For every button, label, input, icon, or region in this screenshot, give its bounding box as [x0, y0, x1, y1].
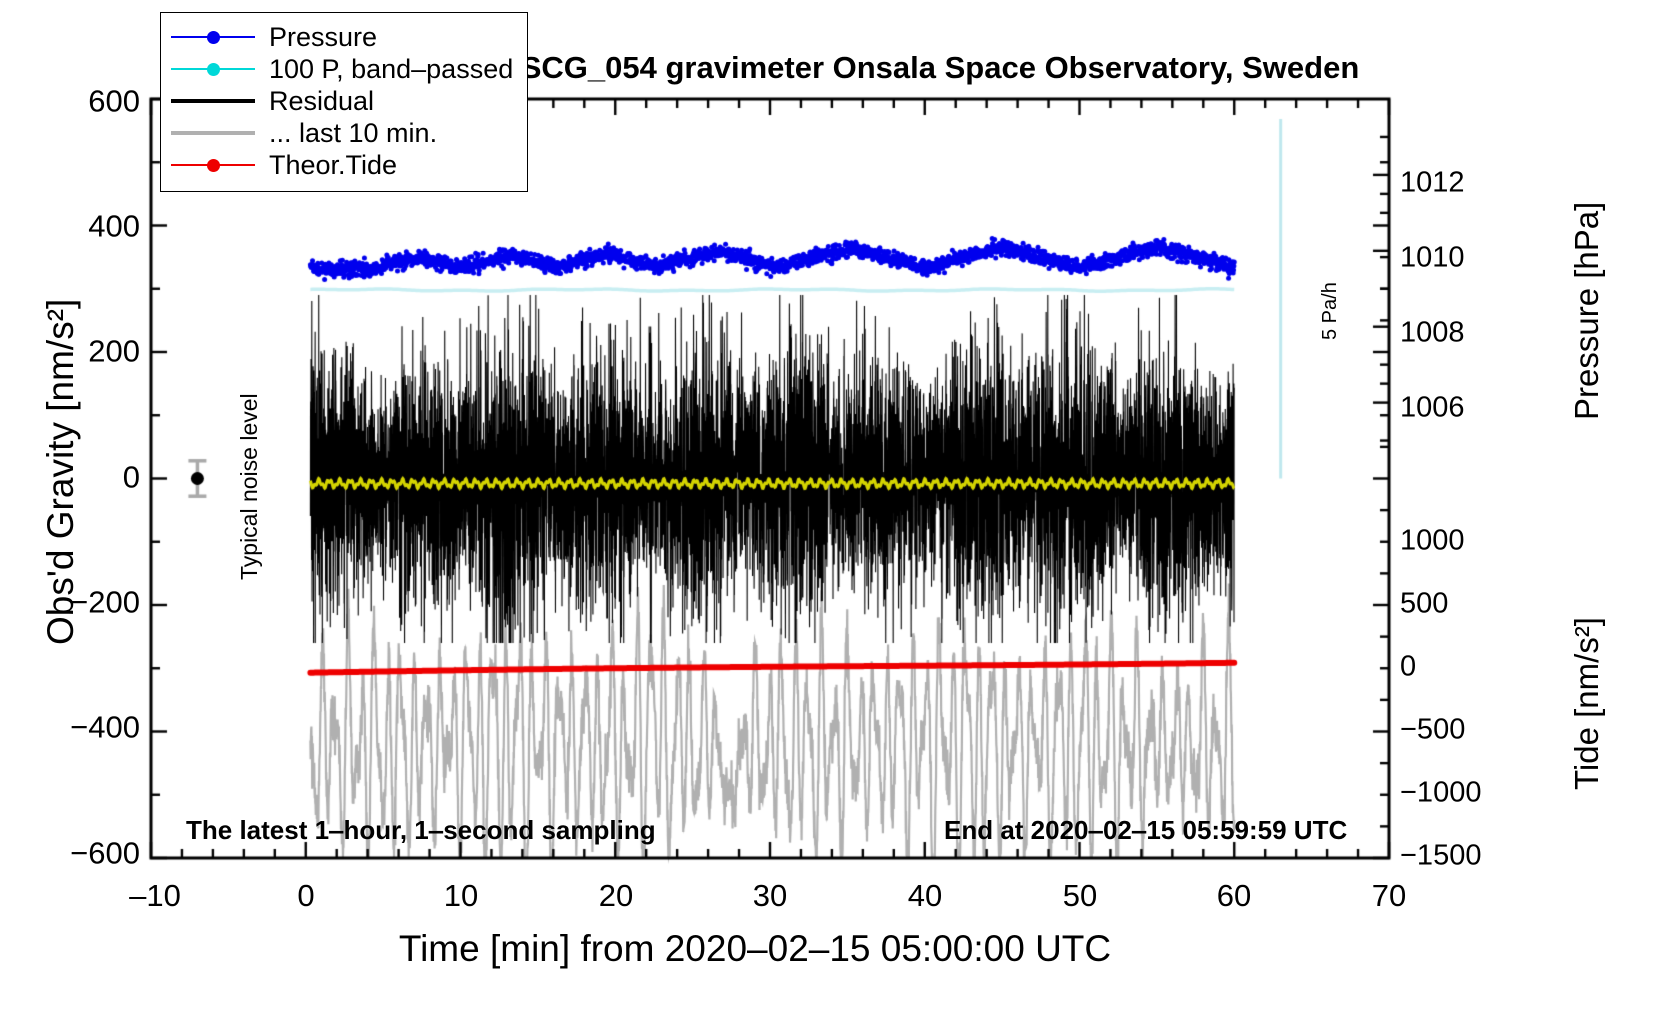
y-axis-right-pressure-title: Pressure [hPa]: [1570, 202, 1603, 420]
y-left-tick-400: 400: [20, 211, 140, 242]
x-tick-neg10: ‒10: [129, 880, 181, 911]
y-left-tick-600: 600: [20, 86, 140, 117]
y-right-tide-tick-neg1500: −1500: [1400, 842, 1481, 871]
x-tick-40: 40: [908, 880, 942, 911]
figure-root: SCG_054 gravimeter Onsala Space Observat…: [0, 0, 1660, 1020]
legend-swatch-last-10-min: [171, 123, 255, 143]
x-tick-0: 0: [297, 880, 314, 911]
legend-item-pressure[interactable]: Pressure: [171, 21, 513, 53]
x-tick-70: 70: [1372, 880, 1406, 911]
y-right-pressure-tick-1010: 1010: [1400, 244, 1465, 273]
y-right-pressure-tick-1012: 1012: [1400, 169, 1465, 198]
page-title: SCG_054 gravimeter Onsala Space Observat…: [521, 52, 1360, 83]
x-tick-10: 10: [444, 880, 478, 911]
legend-label-theor-tide: Theor.Tide: [269, 150, 397, 181]
y-right-tide-tick-neg1000: −1000: [1400, 779, 1481, 808]
y-right-tide-tick-1000: 1000: [1400, 527, 1465, 556]
legend-swatch-residual: [171, 91, 255, 111]
y-right-pressure-tick-1006: 1006: [1400, 394, 1465, 423]
legend-label-residual: Residual: [269, 86, 374, 117]
y-right-tide-tick-0: 0: [1400, 653, 1416, 682]
y-axis-left-title: Obs'd Gravity [nm/s²]: [42, 299, 79, 645]
x-tick-60: 60: [1217, 880, 1251, 911]
x-tick-20: 20: [599, 880, 633, 911]
x-tick-50: 50: [1063, 880, 1097, 911]
bottom-left-note: The latest 1‒hour, 1‒second sampling: [186, 817, 656, 843]
y-right-tide-tick-500: 500: [1400, 590, 1448, 619]
legend-item-theor-tide[interactable]: Theor.Tide: [171, 149, 513, 181]
y-right-tide-tick-neg500: −500: [1400, 716, 1465, 745]
y-right-pressure-tick-1008: 1008: [1400, 319, 1465, 348]
legend-swatch-band-passed: [171, 59, 255, 79]
legend-item-band-passed[interactable]: 100 P, band‒passed: [171, 53, 513, 85]
legend-label-pressure: Pressure: [269, 22, 377, 53]
y-left-tick-neg600: −600: [20, 838, 140, 869]
y-axis-right-tide-title: Tide [nm/s²]: [1570, 617, 1603, 790]
y-left-tick-neg400: −400: [20, 712, 140, 743]
typical-noise-level-label: Typical noise level: [238, 393, 261, 580]
legend-label-band-passed: 100 P, band‒passed: [269, 54, 513, 85]
legend-label-last-10-min: ... last 10 min.: [269, 118, 437, 149]
x-axis-title: Time [min] from 2020‒02‒15 05:00:00 UTC: [399, 930, 1111, 967]
legend-swatch-theor-tide: [171, 155, 255, 175]
x-tick-30: 30: [753, 880, 787, 911]
legend-item-last-10-min[interactable]: ... last 10 min.: [171, 117, 513, 149]
legend-item-residual[interactable]: Residual: [171, 85, 513, 117]
legend-swatch-pressure: [171, 27, 255, 47]
legend: Pressure 100 P, band‒passed Residual ...…: [160, 12, 528, 192]
bottom-right-note: End at 2020‒02‒15 05:59:59 UTC: [944, 817, 1347, 843]
scale-bar-label: 5 Pa/h: [1320, 282, 1340, 340]
